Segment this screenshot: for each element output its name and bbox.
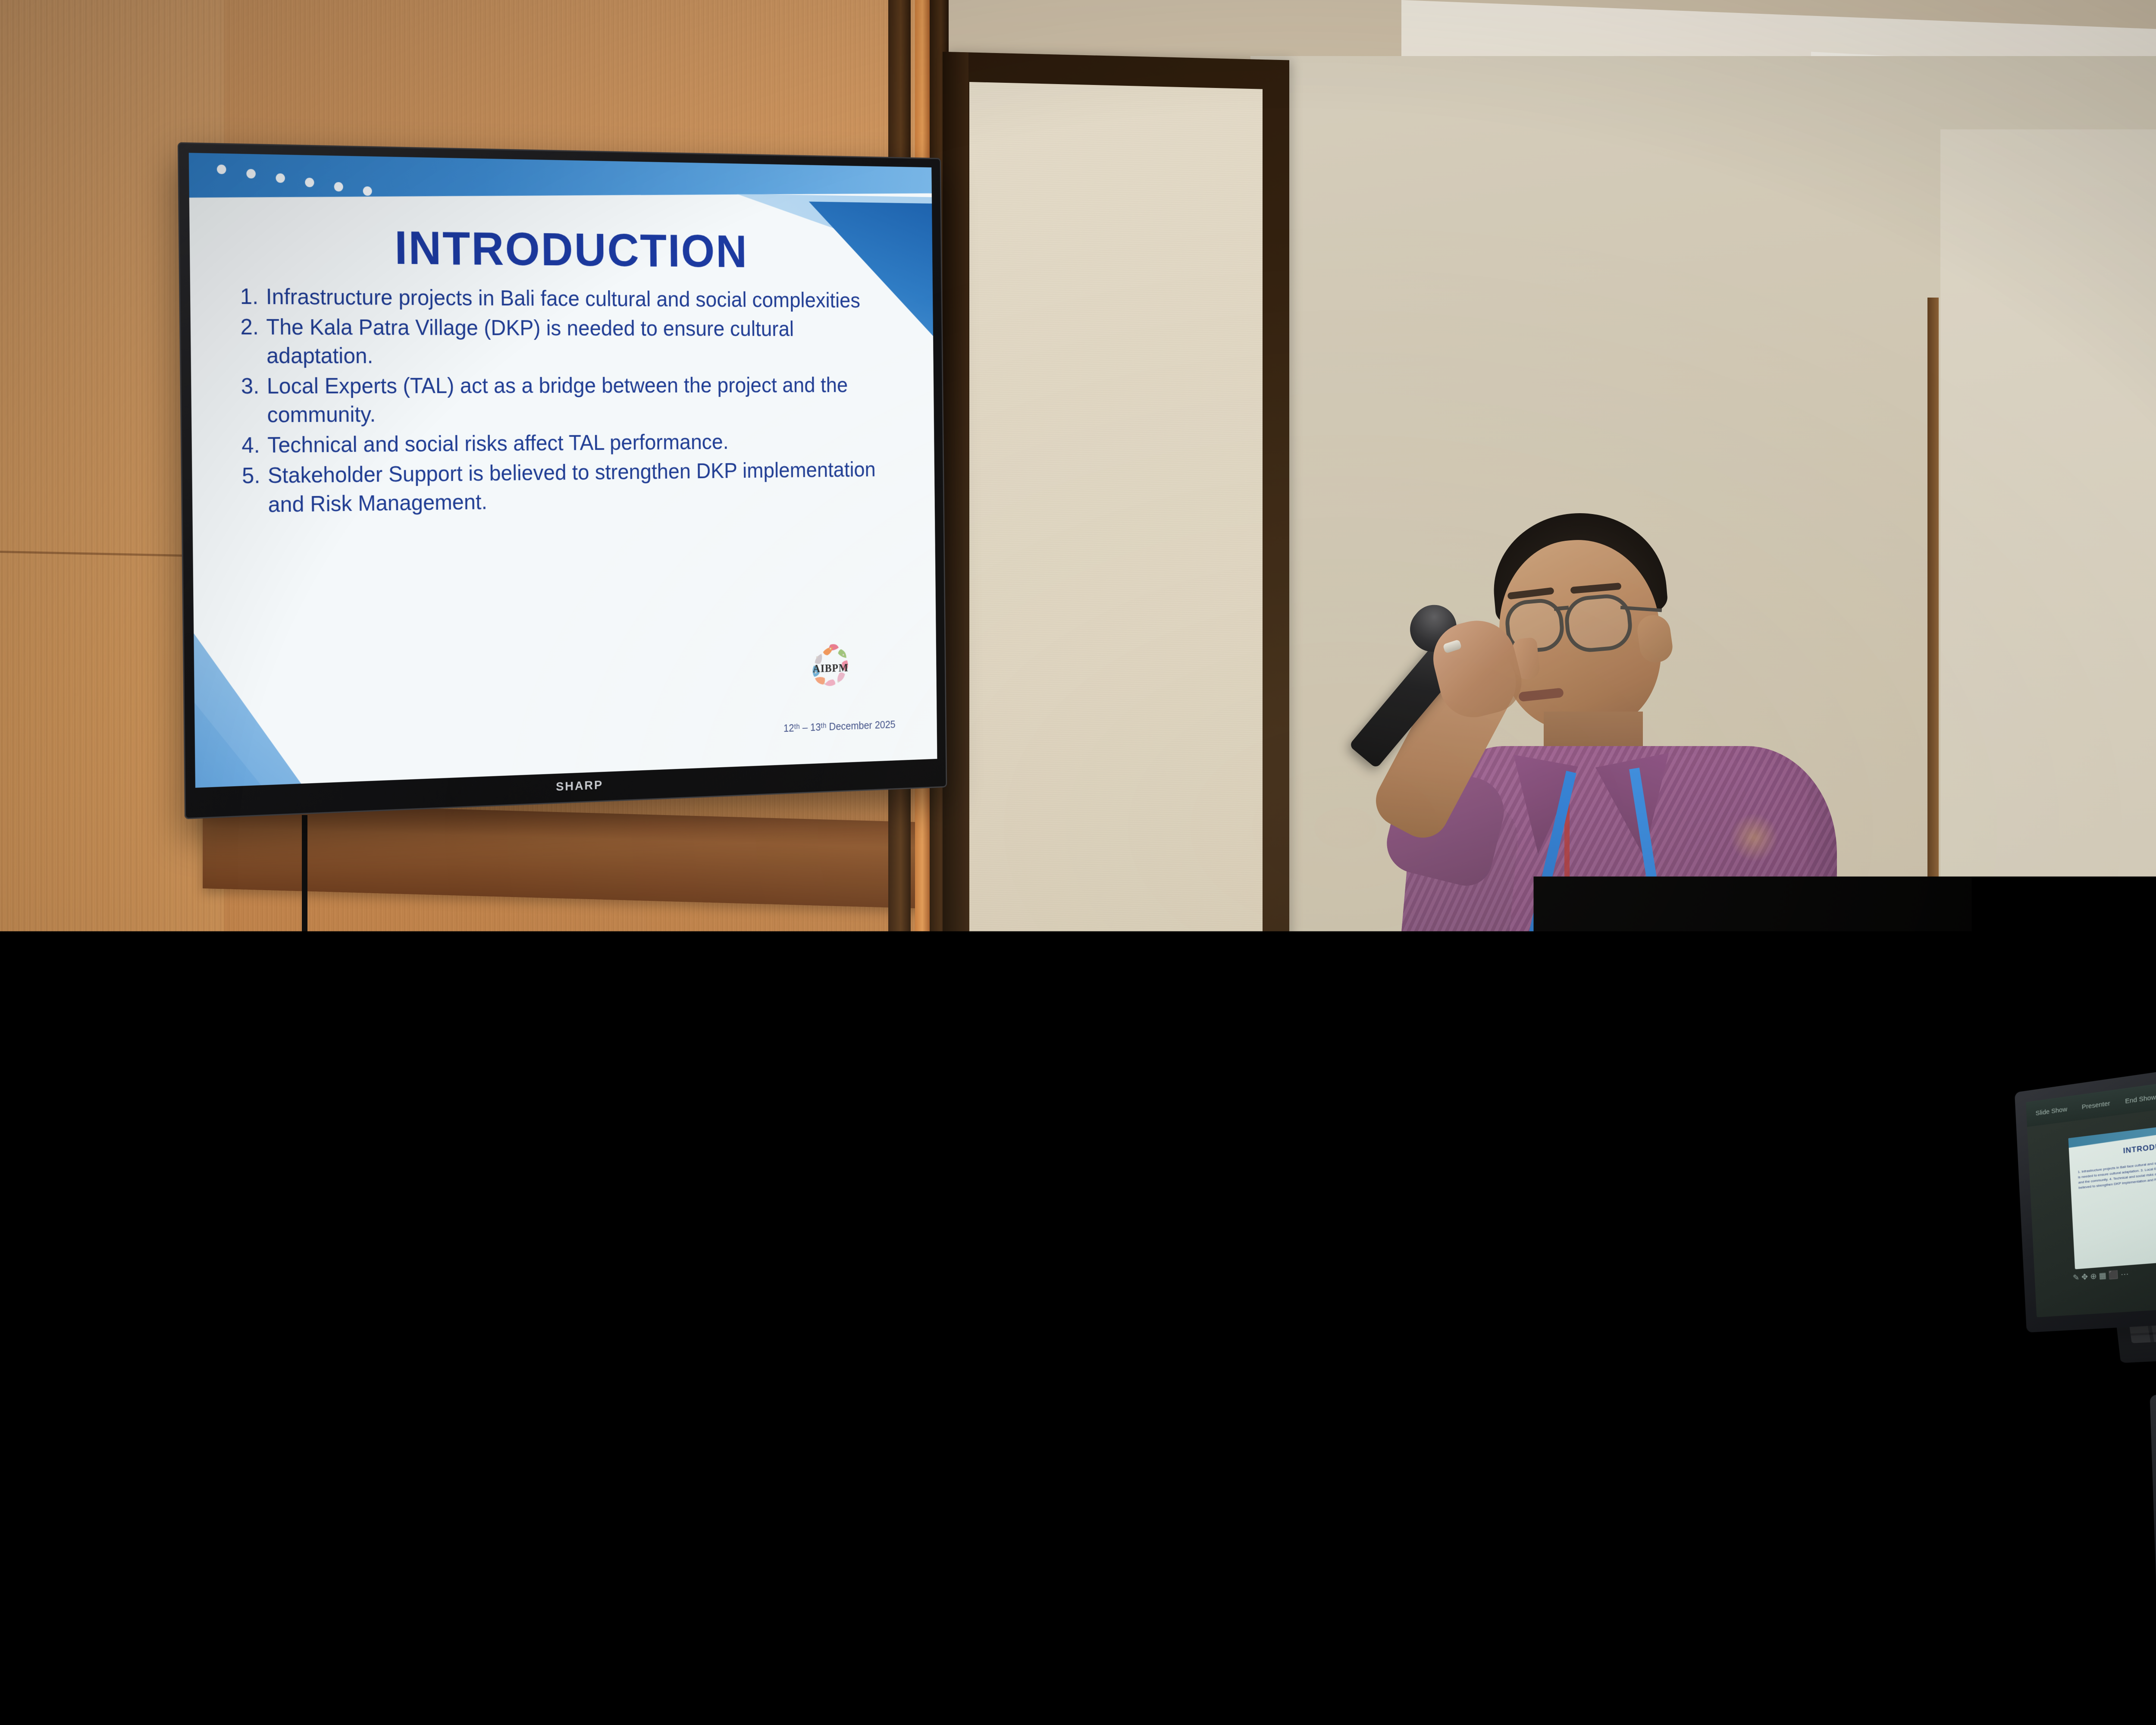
id-badge-holder: 2025 BALI ICPM MEMBERSHIP xyxy=(1536,1000,1672,1100)
header-dot-icon xyxy=(334,182,343,191)
slide-header-dots xyxy=(217,165,372,196)
slide-date: 12ᵗʰ – 13ᵗʰ December 2025 xyxy=(783,719,896,734)
slide-title: INTRODUCTION xyxy=(189,217,932,279)
header-dot-icon xyxy=(363,186,372,196)
bullet-text: The Kala Patra Village (DKP) is needed t… xyxy=(266,313,889,370)
presenter-current-slide: INTRODUCTION 1. Infrastructure projects … xyxy=(2068,1116,2156,1269)
header-dot-icon xyxy=(276,173,285,183)
wall-mounted-tv[interactable]: INTRODUCTION 1. Infrastructure projects … xyxy=(178,142,947,819)
tv-brand-label: SHARP xyxy=(556,778,603,794)
lanyard-clip xyxy=(1595,970,1610,1009)
acoustic-panel-frame-left xyxy=(943,52,968,1596)
bullet-text: Infrastructure projects in Bali face cul… xyxy=(266,282,888,314)
bullet-number: 1. xyxy=(240,282,259,311)
bullet-number: 4. xyxy=(241,431,260,460)
ribbon-item-endshow[interactable]: End Show xyxy=(2125,1093,2156,1105)
trouser-leg-gap xyxy=(1598,1289,1607,1725)
mini-slide-header xyxy=(2068,1116,2156,1148)
booklet-title: CPM xyxy=(1943,1231,1976,1268)
ribbon-item-slideshow[interactable]: Slide Show xyxy=(2035,1105,2067,1117)
bottle-label xyxy=(1850,1143,1902,1194)
slide-bullet-item: 5. Stakeholder Support is believed to st… xyxy=(242,456,890,520)
table-leg xyxy=(2031,1432,2122,1561)
header-dot-icon xyxy=(305,178,314,187)
bullet-text: Technical and social risks affect TAL pe… xyxy=(267,427,890,460)
door-frame xyxy=(1936,298,1957,1005)
tv-screen[interactable]: INTRODUCTION 1. Infrastructure projects … xyxy=(189,153,937,787)
bottle-cap xyxy=(1861,1052,1890,1070)
ribbon-item-presenter[interactable]: Presenter xyxy=(2081,1099,2110,1110)
presentation-slide: INTRODUCTION 1. Infrastructure projects … xyxy=(189,153,937,787)
bullet-text: Local Experts (TAL) act as a bridge betw… xyxy=(266,372,890,430)
handwritten-lines xyxy=(1728,1242,1946,1312)
slide-bullet-item: 3. Local Experts (TAL) act as a bridge b… xyxy=(241,372,890,430)
laptop-screen[interactable]: Slide Show Presenter End Show INTRODUCTI… xyxy=(2026,1056,2156,1317)
shirt-placket-stitching xyxy=(1564,781,1570,1186)
slide-bullet-item: 4. Technical and social risks affect TAL… xyxy=(241,427,890,460)
aibpm-logo: AIBPM xyxy=(805,641,856,696)
conference-room-photo: INTRODUCTION 1. Infrastructure projects … xyxy=(0,0,2156,1725)
slide-bullet-item: 1. Infrastructure projects in Bali face … xyxy=(240,282,889,314)
header-dot-icon xyxy=(217,165,226,174)
slide-bullet-list: 1. Infrastructure projects in Bali face … xyxy=(240,282,891,521)
bullet-number: 3. xyxy=(241,372,260,430)
bullet-number: 5. xyxy=(242,462,261,520)
id-badge-card: 2025 BALI ICPM MEMBERSHIP xyxy=(1548,1012,1662,1088)
aibpm-logo-text: AIBPM xyxy=(805,641,856,696)
header-dot-icon xyxy=(246,169,256,179)
bullet-text: Stakeholder Support is believed to stren… xyxy=(267,456,890,519)
slide-bullet-item: 2. The Kala Patra Village (DKP) is neede… xyxy=(240,313,889,370)
bullet-number: 2. xyxy=(240,313,259,370)
power-cable xyxy=(302,815,532,1519)
acoustic-panel-fabric xyxy=(969,82,1263,1564)
presenter-laptop[interactable]: Slide Show Presenter End Show INTRODUCTI… xyxy=(2027,1091,2156,1410)
